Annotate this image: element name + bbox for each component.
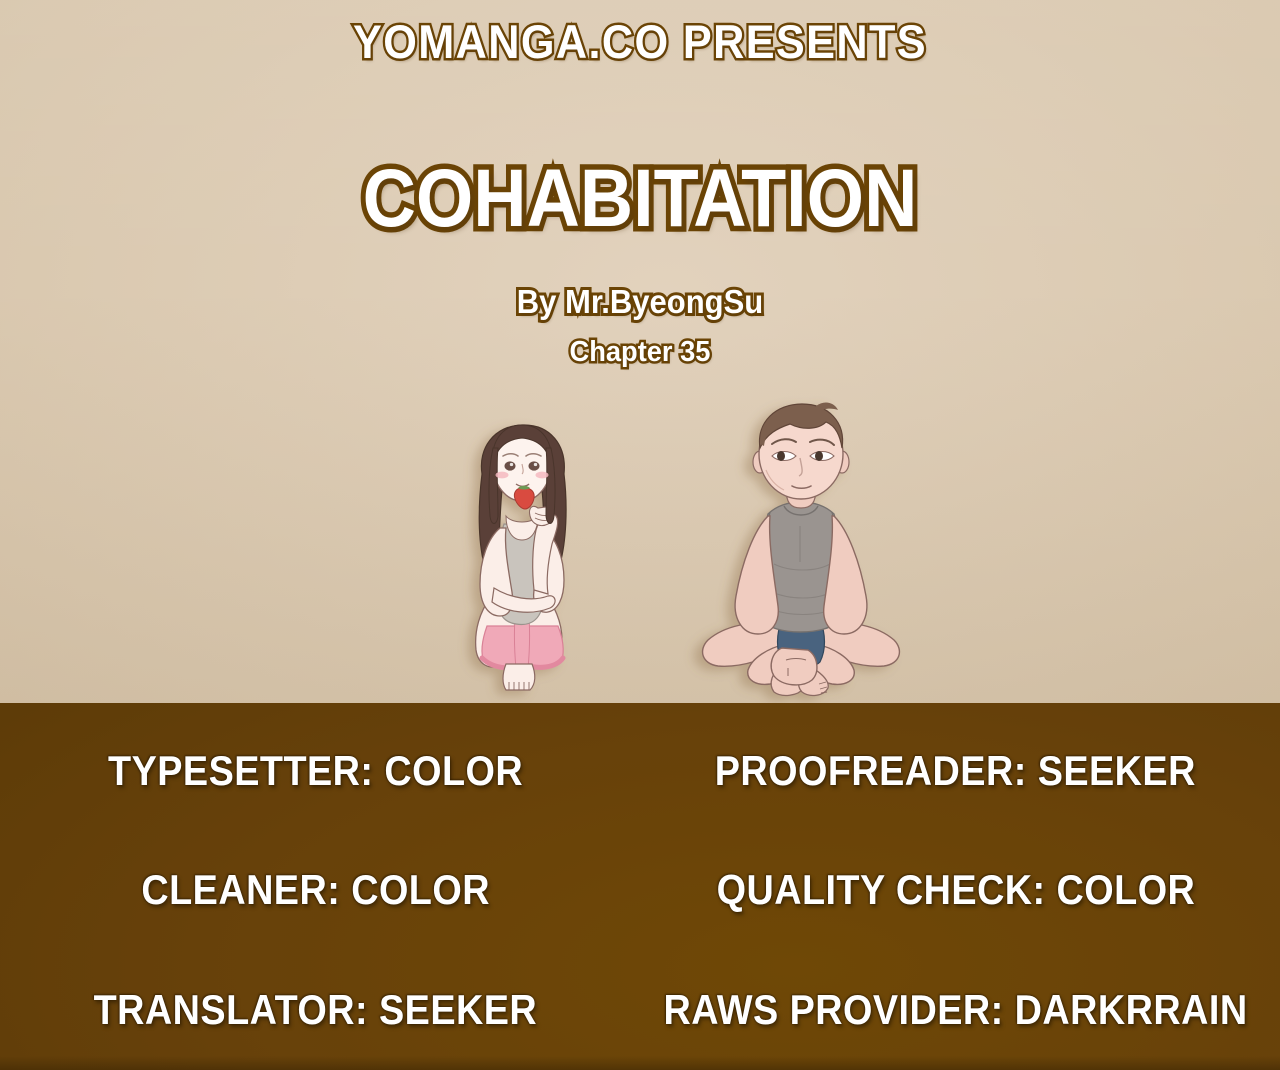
seated-female-character	[432, 412, 612, 704]
presents-header: YOMANGA.CO PRESENTS	[51, 14, 1229, 69]
cross-legged-male-character	[690, 396, 912, 704]
male-figure-group	[703, 403, 900, 696]
credits-grid: TYPESETTER: COLOR PROOFREADER: SEEKER CL…	[0, 703, 1280, 1070]
female-figure-group	[476, 425, 566, 690]
comic-credits-page: YOMANGA.CO PRESENTS COHABITATION By Mr.B…	[0, 0, 1280, 1070]
credit-proofreader: PROOFREADER: SEEKER	[715, 747, 1196, 795]
credit-quality-check: QUALITY CHECK: COLOR	[716, 866, 1195, 914]
credit-cleaner: CLEANER: COLOR	[141, 866, 490, 914]
author-credit: By Mr.ByeongSu	[38, 283, 1241, 321]
chapter-label: Chapter 35	[38, 336, 1241, 369]
credit-translator: TRANSLATOR: SEEKER	[94, 986, 538, 1034]
credit-typesetter: TYPESETTER: COLOR	[108, 747, 523, 795]
credits-panel: TYPESETTER: COLOR PROOFREADER: SEEKER CL…	[0, 703, 1280, 1070]
page-title: COHABITATION	[64, 152, 1216, 246]
credit-raws-provider: RAWS PROVIDER: DARKRRAIN	[663, 986, 1247, 1034]
